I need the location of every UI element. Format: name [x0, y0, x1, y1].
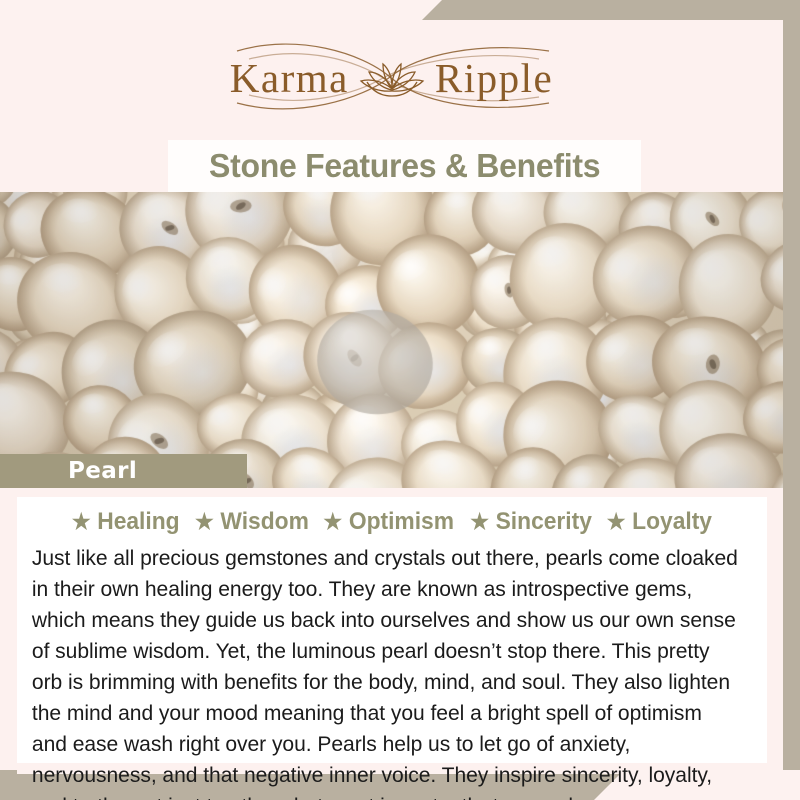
keyword-label: Loyalty — [632, 508, 712, 536]
keyword-label: Optimism — [349, 508, 454, 536]
keyword-item: ★Wisdom — [195, 508, 309, 536]
stone-photo — [0, 192, 783, 488]
stone-name: Pearl — [68, 458, 137, 484]
title-banner: Stone Features & Benefits — [168, 140, 641, 192]
keyword-item: ★Sincerity — [470, 508, 592, 536]
content-card: ★Healing★Wisdom★Optimism★Sincerity★Loyal… — [17, 497, 767, 763]
star-icon: ★ — [470, 511, 489, 533]
decor-band-top-right — [420, 0, 800, 22]
keyword-label: Wisdom — [220, 508, 308, 536]
body-paragraph: Just like all precious gemstones and cry… — [25, 543, 748, 800]
star-icon: ★ — [607, 511, 626, 533]
keyword-item: ★Healing — [72, 508, 180, 536]
brand-name-left: Karma — [230, 54, 349, 102]
keyword-list: ★Healing★Wisdom★Optimism★Sincerity★Loyal… — [25, 505, 759, 539]
star-icon: ★ — [324, 511, 343, 533]
keyword-label: Healing — [97, 508, 179, 536]
keyword-label: Sincerity — [496, 508, 592, 536]
stone-name-bar: Pearl — [0, 454, 247, 488]
star-icon: ★ — [72, 511, 91, 533]
keyword-item: ★Loyalty — [607, 508, 712, 536]
brand-name-right: Ripple — [435, 54, 553, 102]
keyword-item: ★Optimism — [324, 508, 455, 536]
page-title: Stone Features & Benefits — [209, 147, 600, 185]
brand-logo: Karma Ripple — [0, 30, 783, 125]
pearl-photo-canvas — [0, 192, 783, 488]
infographic-poster: Karma Ripple Stone Features & Benefits P… — [0, 0, 800, 800]
star-icon: ★ — [195, 511, 214, 533]
decor-band-right-edge — [783, 0, 800, 770]
